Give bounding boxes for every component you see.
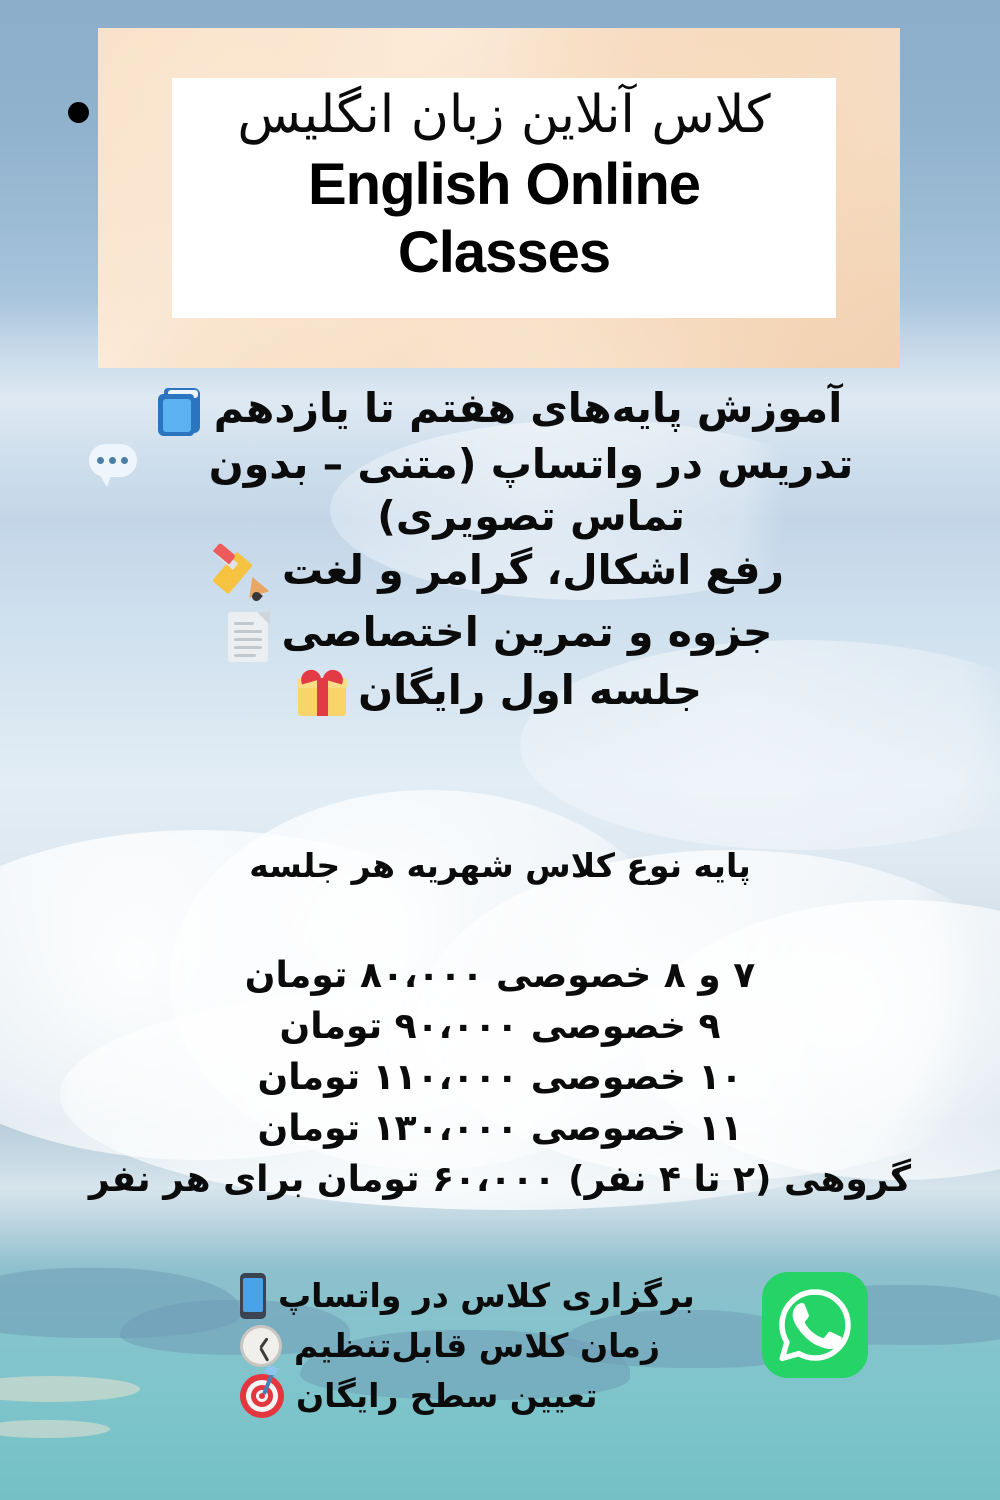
contact-item: زمان کلاس قابل‌تنظیم (240, 1322, 760, 1369)
page-title-english-line1: English Online (308, 152, 700, 218)
contact-line-list: برگزاری کلاس در واتساپ زمان کلاس قابل‌تن… (240, 1272, 760, 1422)
contact-label: زمان کلاس قابل‌تنظیم (294, 1322, 660, 1369)
page-document-icon (228, 612, 270, 662)
price-row: ۱۰ خصوصی ۱۱۰،۰۰۰ تومان (0, 1052, 1000, 1103)
price-row: ۹ خصوصی ۹۰،۰۰۰ تومان (0, 1001, 1000, 1052)
contact-section: برگزاری کلاس در واتساپ زمان کلاس قابل‌تن… (0, 1272, 1000, 1447)
price-row: ۱۱ خصوصی ۱۳۰،۰۰۰ تومان (0, 1103, 1000, 1154)
header-white-panel: کلاس آنلاین زبان انگلیس English Online C… (172, 78, 836, 318)
feature-item: تدریس در واتساپ (متنی – بدون تماس تصویری… (40, 438, 960, 542)
price-row: ۷ و ۸ خصوصی ۸۰،۰۰۰ تومان (0, 950, 1000, 1001)
feature-item: رفع اشکال، گرامر و لغت (40, 544, 960, 604)
feature-item: آموزش پایه‌های هفتم تا یازدهم (40, 382, 960, 436)
poster-canvas: کلاس آنلاین زبان انگلیس English Online C… (0, 0, 1000, 1500)
feature-label: جلسه اول رایگان (358, 664, 702, 716)
whatsapp-logo[interactable] (762, 1272, 868, 1378)
blue-book-icon (158, 388, 202, 436)
pricing-table-rows: ۷ و ۸ خصوصی ۸۰،۰۰۰ تومان ۹ خصوصی ۹۰،۰۰۰ … (0, 950, 1000, 1205)
feature-item: جلسه اول رایگان (40, 664, 960, 716)
feature-label: آموزش پایه‌های هفتم تا یازدهم (214, 382, 843, 434)
whatsapp-glyph-icon (776, 1286, 854, 1364)
dart-target-icon (240, 1374, 284, 1418)
contact-item: تعیین سطح رایگان (240, 1372, 760, 1419)
gift-icon (298, 670, 346, 716)
feature-item: جزوه و تمرین اختصاصی (40, 606, 960, 662)
mobile-phone-icon (240, 1273, 266, 1319)
header-banner: کلاس آنلاین زبان انگلیس English Online C… (98, 28, 900, 368)
pricing-table-header: پایه نوع کلاس شهریه هر جلسه (0, 845, 1000, 887)
contact-label: تعیین سطح رایگان (296, 1372, 597, 1419)
clock-icon (240, 1325, 282, 1367)
pencil-icon (216, 550, 270, 604)
contact-label: برگزاری کلاس در واتساپ (278, 1272, 695, 1319)
feature-label: جزوه و تمرین اختصاصی (282, 606, 773, 658)
contact-item: برگزاری کلاس در واتساپ (240, 1272, 760, 1319)
page-title-english-line2: Classes (398, 220, 610, 286)
speech-balloon-icon (89, 444, 139, 488)
feature-list: آموزش پایه‌های هفتم تا یازدهم تدریس در و… (40, 382, 960, 718)
feature-label: رفع اشکال، گرامر و لغت (282, 544, 784, 596)
page-title-persian: کلاس آنلاین زبان انگلیس (237, 84, 770, 146)
price-row: گروهی (۲ تا ۴ نفر) ۶۰،۰۰۰ تومان برای هر … (0, 1154, 1000, 1205)
feature-label: تدریس در واتساپ (متنی – بدون تماس تصویری… (151, 438, 911, 542)
bullet-dot (68, 102, 89, 123)
